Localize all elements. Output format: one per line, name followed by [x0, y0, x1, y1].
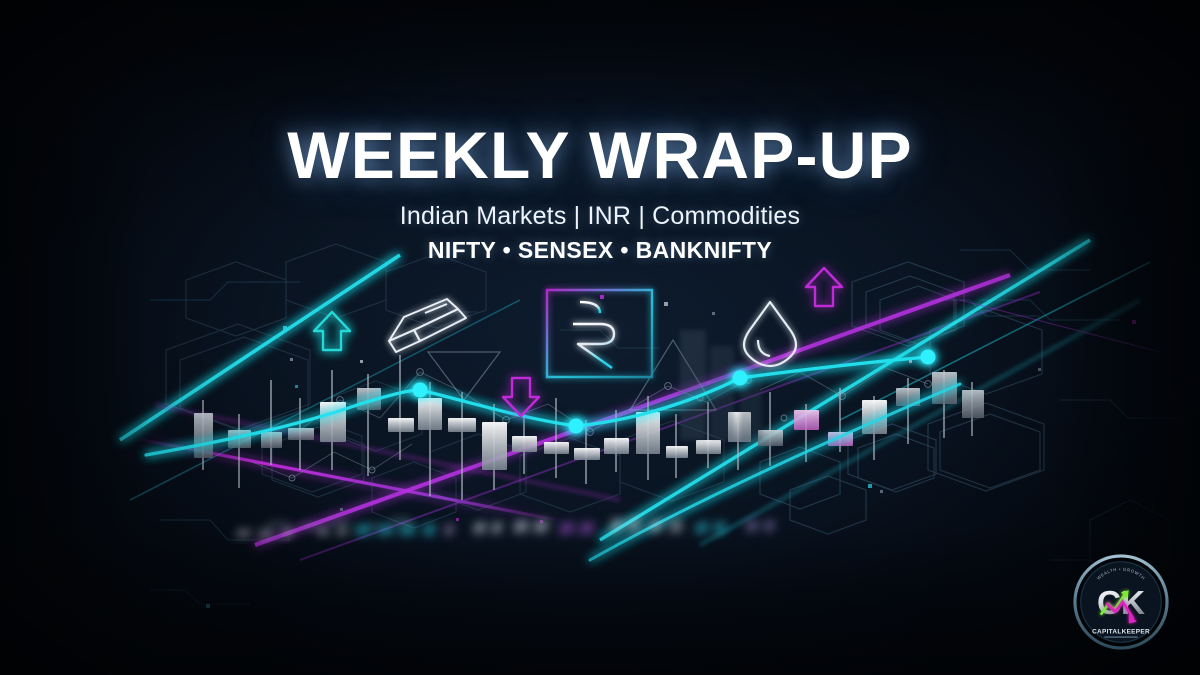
- rupee-symbol-icon: [547, 290, 652, 377]
- hexagon-grid: [166, 244, 724, 528]
- node-network-dots: [289, 369, 931, 481]
- trendline-node: [413, 350, 936, 434]
- corner-bracket: [150, 500, 1170, 604]
- page-title: WEEKLY WRAP-UP: [0, 122, 1200, 189]
- subtitle-primary: Indian Markets | INR | Commodities: [0, 202, 1200, 231]
- banner-canvas: WEEKLY WRAP-UP Indian Markets | INR | Co…: [0, 0, 1200, 675]
- arrow-up-icon: [806, 268, 842, 306]
- triangle-markers: [428, 340, 716, 410]
- circuit-traces: [150, 250, 1180, 540]
- logo-underline: [1104, 636, 1137, 638]
- subtitle-secondary: NIFTY • SENSEX • BANKNIFTY: [0, 237, 1200, 264]
- arrow-up-icon: [314, 312, 350, 350]
- light-beams: [120, 240, 1160, 560]
- arrow-down-icon: [503, 378, 539, 416]
- logo-brand-name: CAPITALKEEPER: [1092, 628, 1150, 635]
- background-graphics: [0, 0, 1200, 675]
- capitalkeeper-logo[interactable]: WEALTH • GROWTH CK CAPITALKEEPER: [1072, 553, 1170, 651]
- headline-block: WEEKLY WRAP-UP Indian Markets | INR | Co…: [0, 122, 1200, 264]
